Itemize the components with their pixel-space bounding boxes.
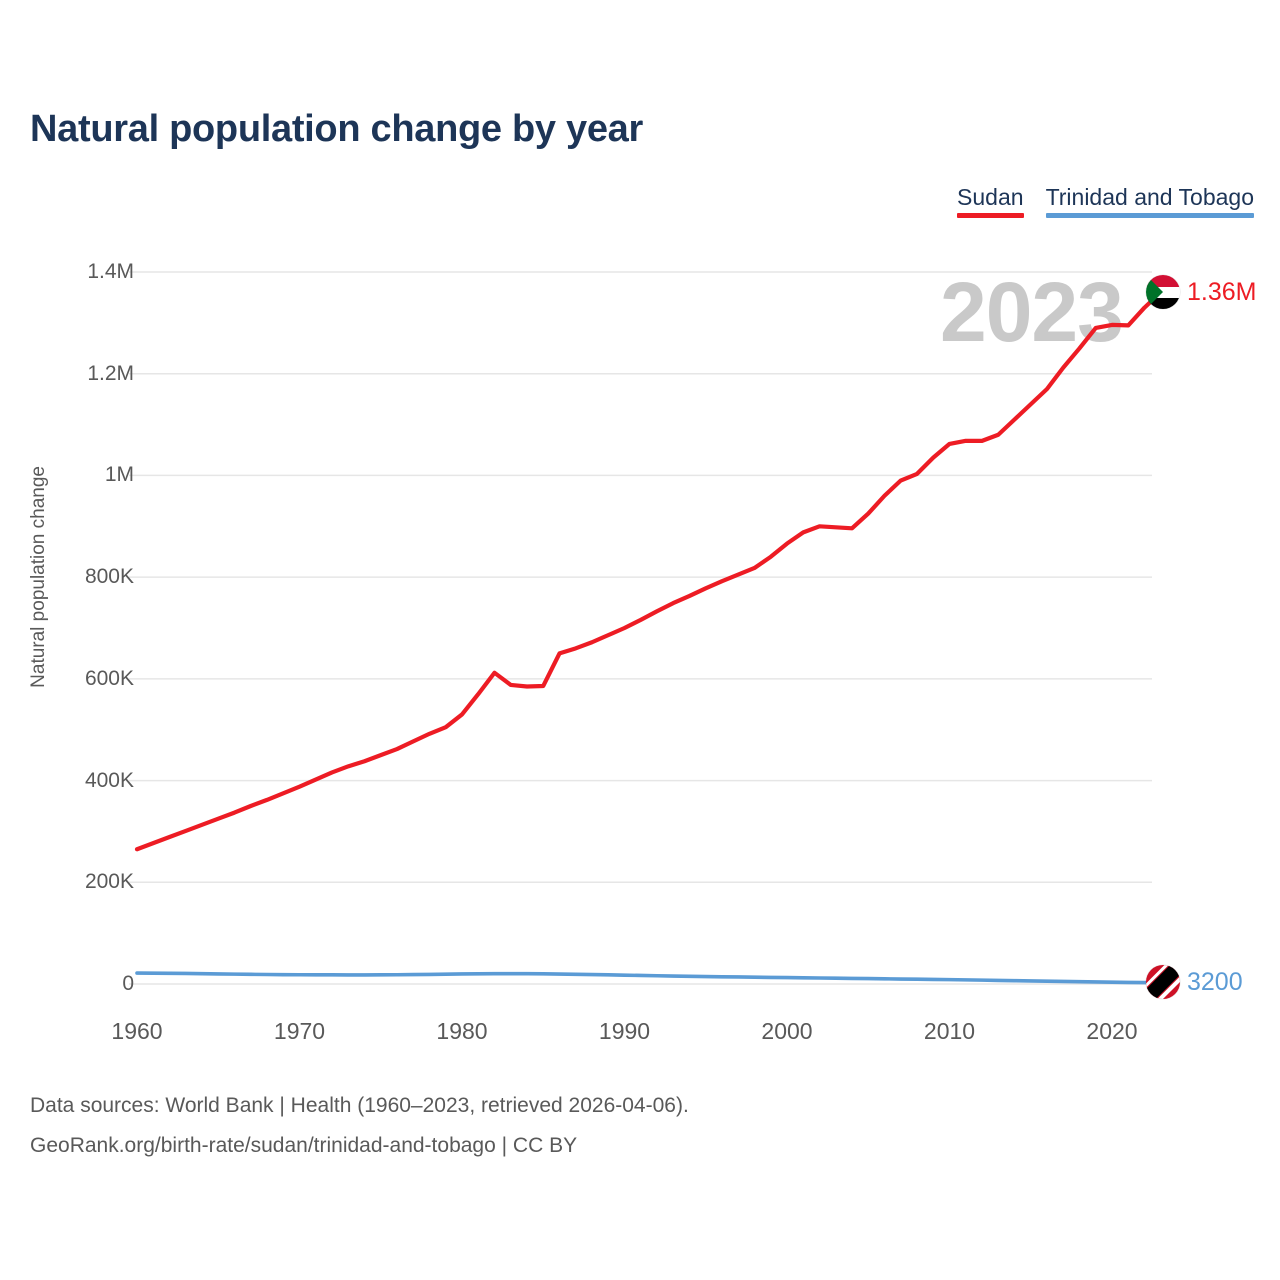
y-tick-600K: 600K [85, 667, 134, 691]
x-tick-1990: 1990 [599, 1018, 650, 1045]
y-tick-800K: 800K [85, 565, 134, 589]
sudan-endpoint: 1.36M [1146, 275, 1256, 309]
footer-line-2: GeoRank.org/birth-rate/sudan/trinidad-an… [30, 1126, 689, 1166]
y-axis-title: Natural population change [28, 466, 50, 688]
y-tick-1.4M: 1.4M [87, 260, 134, 284]
trinidad-endpoint-value: 3200 [1187, 970, 1243, 995]
x-tick-2020: 2020 [1086, 1018, 1137, 1045]
chart-gridlines [129, 272, 1152, 984]
y-tick-1M: 1M [105, 463, 134, 487]
y-tick-400K: 400K [85, 769, 134, 793]
series-line-sudan [137, 292, 1161, 849]
x-tick-1960: 1960 [111, 1018, 162, 1045]
x-tick-1970: 1970 [274, 1018, 325, 1045]
sudan-flag-icon [1146, 275, 1180, 309]
x-tick-1980: 1980 [436, 1018, 487, 1045]
x-tick-2000: 2000 [761, 1018, 812, 1045]
x-tick-2010: 2010 [924, 1018, 975, 1045]
y-tick-200K: 200K [85, 870, 134, 894]
series-line-trinidad-and-tobago [137, 973, 1161, 982]
footer-sources: Data sources: World Bank | Health (1960–… [30, 1086, 689, 1166]
trinidad-endpoint: 3200 [1146, 965, 1243, 999]
sudan-endpoint-value: 1.36M [1187, 280, 1256, 305]
y-tick-0: 0 [122, 972, 134, 996]
footer-line-1: Data sources: World Bank | Health (1960–… [30, 1086, 689, 1126]
chart-series-group [137, 292, 1161, 982]
trinidad-and-tobago-flag-icon [1146, 965, 1180, 999]
chart-page: Natural population change by year Sudan … [0, 0, 1280, 1280]
y-tick-1.2M: 1.2M [87, 362, 134, 386]
